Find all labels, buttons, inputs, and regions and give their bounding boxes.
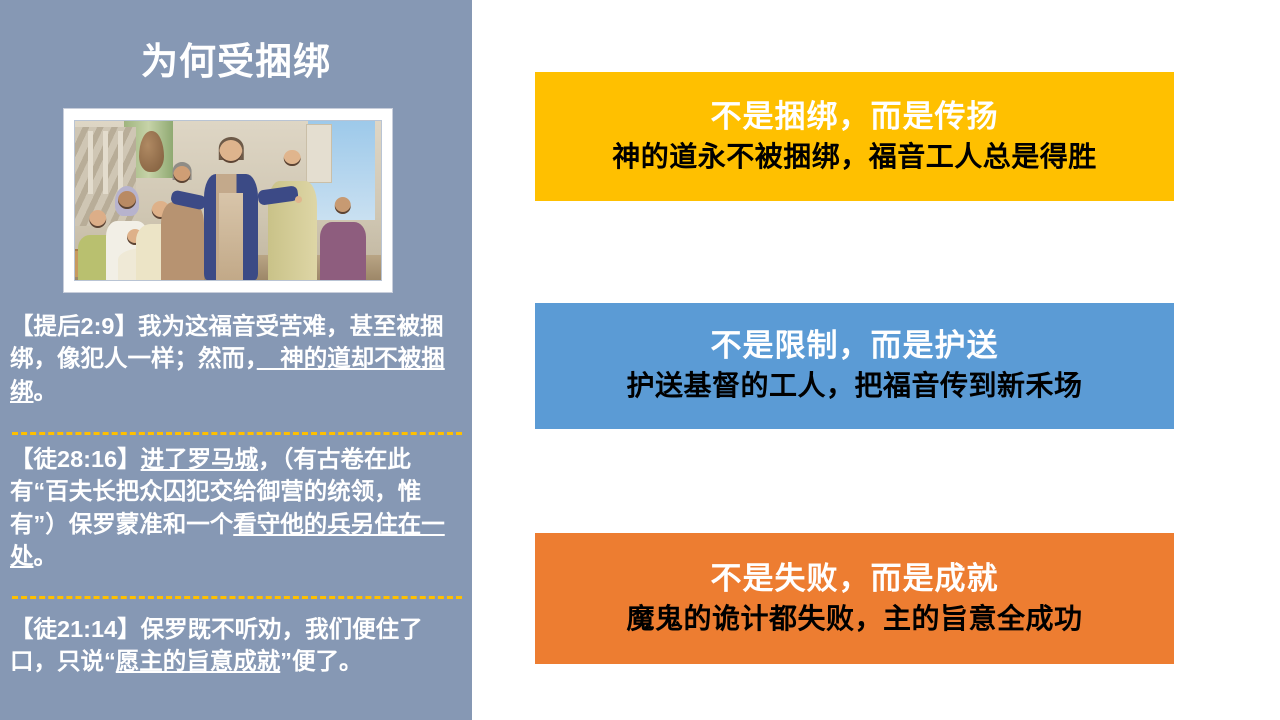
left-panel: 为何受捆绑 [0,0,472,720]
callout-heading: 不是限制，而是护送 [711,327,999,366]
verse-block-2tim-2-9: 【提后2:9】我为这福音受苦难，甚至被捆绑，像犯人一样；然而， 神的道却不被捆绑… [10,310,462,407]
illustration-figure-listener-right [268,150,317,280]
verse-emphasis-1: 进了罗马城 [141,446,259,472]
page-title: 为何受捆绑 [0,42,472,83]
illustration-frame [63,108,393,293]
callout-box-not-bound: 不是捆绑，而是传扬 神的道永不被捆绑，福音工人总是得胜 [535,72,1174,201]
verse-text-tail: 。 [34,378,58,404]
presentation-slide: 为何受捆绑 [0,0,1280,720]
verse-divider-1 [12,432,462,435]
callout-box-not-restricted: 不是限制，而是护送 护送基督的工人，把福音传到新禾场 [535,303,1174,429]
callout-heading: 不是捆绑，而是传扬 [711,98,999,137]
paul-preaching-illustration [74,120,382,281]
verse-text-tail: ”便了。 [280,648,362,674]
callout-box-not-failure: 不是失败，而是成就 魔鬼的诡计都失败，主的旨意全成功 [535,533,1174,664]
verse-reference: 【徒28:16】 [10,446,141,472]
verse-block-acts-21-14: 【徒21:14】保罗既不听劝，我们便住了口，只说“愿主的旨意成就”便了。 [10,613,462,678]
verse-text-tail: 。 [34,543,58,569]
callout-heading: 不是失败，而是成就 [711,560,999,599]
illustration-figure-praying-right [320,197,366,280]
verse-reference: 【徒21:14】 [10,616,141,642]
callout-subtext: 神的道永不被捆绑，福音工人总是得胜 [612,139,1097,175]
illustration-railing [78,131,133,195]
callout-subtext: 护送基督的工人，把福音传到新禾场 [626,368,1082,404]
verse-block-acts-28-16: 【徒28:16】进了罗马城，（有古卷在此有“百夫长把众囚犯交给御营的统领，惟有”… [10,443,462,573]
verse-emphasis-1: 愿主的旨意成就 [116,648,281,674]
callout-subtext: 魔鬼的诡计都失败，主的旨意全成功 [626,601,1082,637]
illustration-figure-paul [200,140,261,280]
verse-emphasis-1: 神的 [257,345,328,371]
verse-text-part-1: 我为这福音受苦难，甚至 [138,313,397,339]
illustration-figure-elder [161,166,204,280]
verse-divider-2 [12,596,462,599]
verse-reference: 【提后2:9】 [10,313,138,339]
